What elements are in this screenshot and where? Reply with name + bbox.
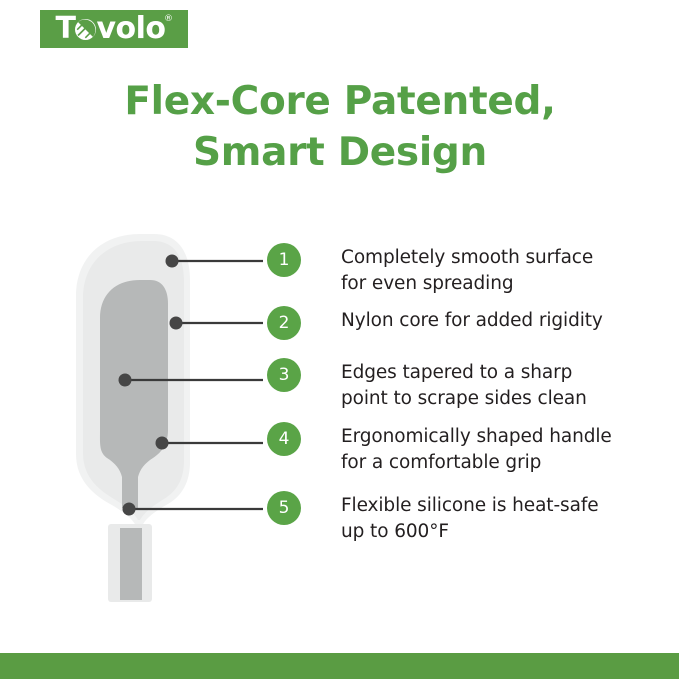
callout-item-5: 5 Flexible silicone is heat-safe up to 6…	[267, 491, 599, 546]
callout-text-3: Edges tapered to a sharp point to scrape…	[341, 358, 587, 413]
callout-badge-2: 2	[267, 306, 301, 340]
callout-item-4: 4 Ergonomically shaped handle for a comf…	[267, 422, 612, 477]
infographic-canvas: T volo® Flex-Core Patented, Smart Design	[0, 0, 679, 679]
footer-accent-bar	[0, 653, 679, 679]
slashed-o-icon	[75, 19, 96, 40]
callout-item-2: 2 Nylon core for added rigidity	[267, 306, 603, 340]
callout-text-5: Flexible silicone is heat-safe up to 600…	[341, 491, 599, 546]
callout-badge-1: 1	[267, 243, 301, 277]
callout-badge-5: 5	[267, 491, 301, 525]
registered-trademark-icon: ®	[164, 15, 173, 24]
callout-text-2: Nylon core for added rigidity	[341, 306, 603, 334]
callout-text-4: Ergonomically shaped handle for a comfor…	[341, 422, 612, 477]
page-title: Flex-Core Patented, Smart Design	[60, 76, 620, 179]
tovolo-wordmark: T volo®	[55, 14, 172, 44]
wordmark-suffix: volo	[96, 11, 165, 46]
callout-item-1: 1 Completely smooth surface for even spr…	[267, 243, 593, 298]
callout-badge-4: 4	[267, 422, 301, 456]
spatula-diagram	[50, 218, 230, 608]
callout-item-3: 3 Edges tapered to a sharp point to scra…	[267, 358, 587, 413]
tovolo-logo: T volo®	[40, 10, 188, 48]
headline-line-2: Smart Design	[60, 127, 620, 178]
wordmark-prefix: T	[55, 11, 75, 46]
callout-badge-3: 3	[267, 358, 301, 392]
headline-line-1: Flex-Core Patented,	[60, 76, 620, 127]
callout-text-1: Completely smooth surface for even sprea…	[341, 243, 593, 298]
